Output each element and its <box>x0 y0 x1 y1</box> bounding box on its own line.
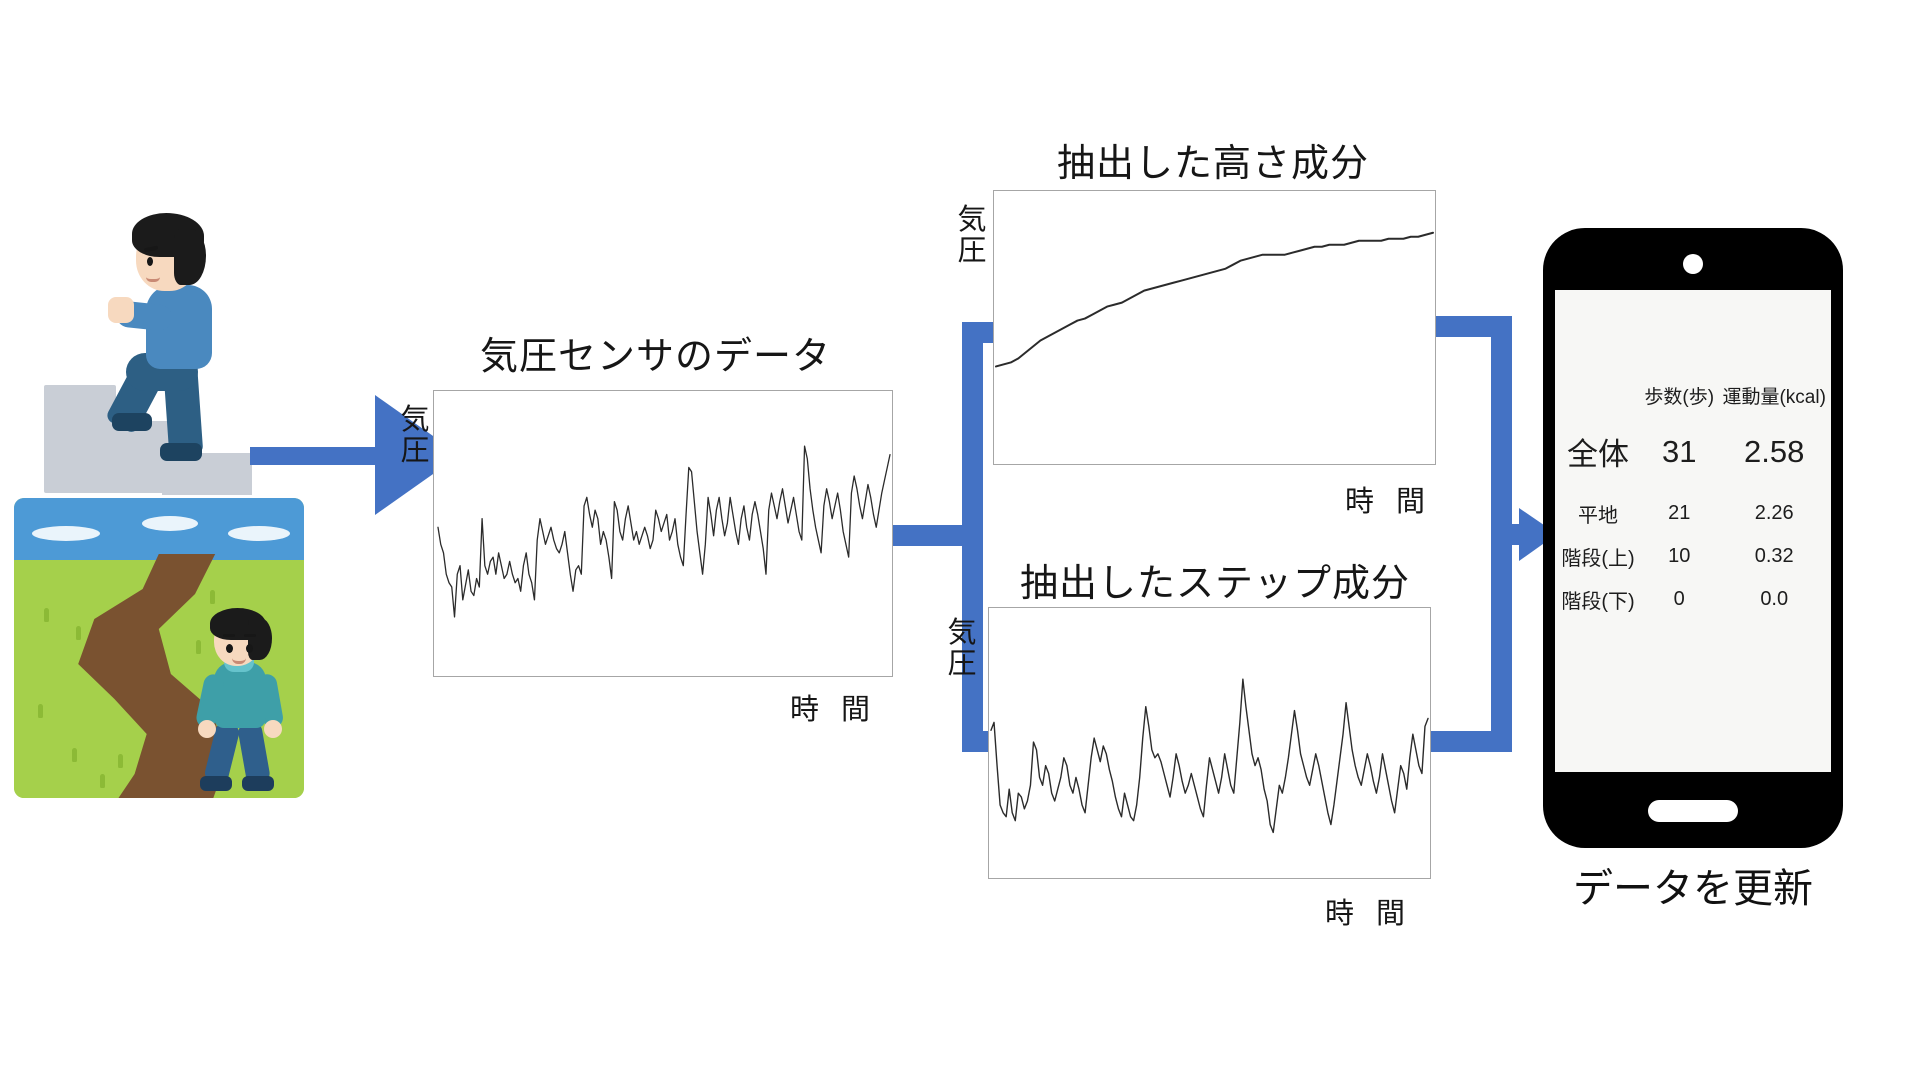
diagram-canvas: 気圧センサのデータ 気 圧 時 間 抽出した高さ成分 気 圧 時 間 抽出したス… <box>0 0 1920 1072</box>
grass-blade <box>72 748 77 762</box>
header-steps: 歩数(歩) <box>1641 382 1717 423</box>
grass-blade <box>118 754 123 768</box>
row-steps-flat: 21 <box>1641 492 1717 535</box>
phone-caption: データを更新 <box>1543 856 1843 914</box>
row-calories-total: 2.58 <box>1717 423 1831 492</box>
row-label-stairs-up: 階段(上) <box>1555 535 1641 578</box>
walker-shoe-left <box>200 776 232 791</box>
connector-vertical <box>962 322 983 752</box>
grass-blade <box>76 626 81 640</box>
walker-eye <box>226 644 233 653</box>
step-component-chart <box>988 607 1431 879</box>
table-row-total: 全体 31 2.58 <box>1555 423 1831 492</box>
pressure-sensor-chart <box>433 390 893 677</box>
climber-hair-side <box>174 229 206 285</box>
grass-blade <box>44 608 49 622</box>
row-label-stairs-down: 階段(下) <box>1555 578 1641 621</box>
walker-hair-side <box>248 618 272 660</box>
row-steps-total: 31 <box>1641 423 1717 492</box>
row-calories-stairs-up: 0.32 <box>1717 535 1831 578</box>
pressure-chart-y-axis-label: 気 圧 <box>398 405 432 468</box>
y-axis-char-1: 気 <box>955 205 989 236</box>
walker-hand-right <box>264 720 282 738</box>
grass-blade <box>210 590 215 604</box>
home-button[interactable] <box>1648 800 1738 822</box>
header-blank <box>1555 382 1641 423</box>
y-axis-char-1: 気 <box>945 618 979 649</box>
height-component-chart <box>993 190 1436 465</box>
walker-eye <box>246 644 253 653</box>
y-axis-char-2: 圧 <box>398 436 432 467</box>
phone-screen[interactable]: 歩数(歩) 運動量(kcal) 全体 31 2.58 平地 21 2.26 <box>1555 290 1831 772</box>
walker-shoe-right <box>242 776 274 791</box>
pressure-chart-x-axis-label: 時 間 <box>790 686 877 728</box>
walker-eyebrow <box>244 634 256 637</box>
step-chart-title: 抽出したステップ成分 <box>1020 552 1410 607</box>
grass-blade <box>38 704 43 718</box>
climber-eye <box>147 257 153 266</box>
row-steps-stairs-up: 10 <box>1641 535 1717 578</box>
row-label-total: 全体 <box>1555 423 1641 492</box>
cloud-icon <box>142 516 198 531</box>
climber-fist <box>108 297 134 323</box>
row-calories-flat: 2.26 <box>1717 492 1831 535</box>
height-chart-title: 抽出した高さ成分 <box>1057 132 1369 187</box>
y-axis-char-1: 気 <box>398 405 432 436</box>
table-row-stairs-down: 階段(下) 0 0.0 <box>1555 578 1831 621</box>
table-row-stairs-up: 階段(上) 10 0.32 <box>1555 535 1831 578</box>
row-label-flat: 平地 <box>1555 492 1641 535</box>
grass-blade <box>100 774 105 788</box>
walker-hand-left <box>198 720 216 738</box>
y-axis-char-2: 圧 <box>955 236 989 267</box>
walker-eyebrow <box>223 634 235 637</box>
height-chart-y-axis-label: 気 圧 <box>955 205 989 268</box>
front-camera-icon <box>1683 254 1703 274</box>
climber-shoe-back <box>160 443 202 461</box>
stair-step-upper <box>44 385 116 493</box>
table-header-row: 歩数(歩) 運動量(kcal) <box>1555 382 1831 423</box>
y-axis-char-2: 圧 <box>945 649 979 680</box>
pressure-chart-title: 気圧センサのデータ <box>480 325 831 380</box>
header-calories: 運動量(kcal) <box>1717 382 1831 423</box>
climber-shoe-front <box>112 413 152 431</box>
smartphone-mockup: 歩数(歩) 運動量(kcal) 全体 31 2.58 平地 21 2.26 <box>1543 228 1843 848</box>
cloud-icon <box>228 526 290 541</box>
activity-stats-table: 歩数(歩) 運動量(kcal) 全体 31 2.58 平地 21 2.26 <box>1555 382 1831 621</box>
row-calories-stairs-down: 0.0 <box>1717 578 1831 621</box>
walking-illustration <box>14 498 304 798</box>
row-steps-stairs-down: 0 <box>1641 578 1717 621</box>
height-chart-x-axis-label: 時 間 <box>1345 478 1432 520</box>
cloud-icon <box>32 526 100 541</box>
table-row-flat: 平地 21 2.26 <box>1555 492 1831 535</box>
step-chart-x-axis-label: 時 間 <box>1325 890 1412 932</box>
step-chart-y-axis-label: 気 圧 <box>945 618 979 681</box>
grass-blade <box>196 640 201 654</box>
